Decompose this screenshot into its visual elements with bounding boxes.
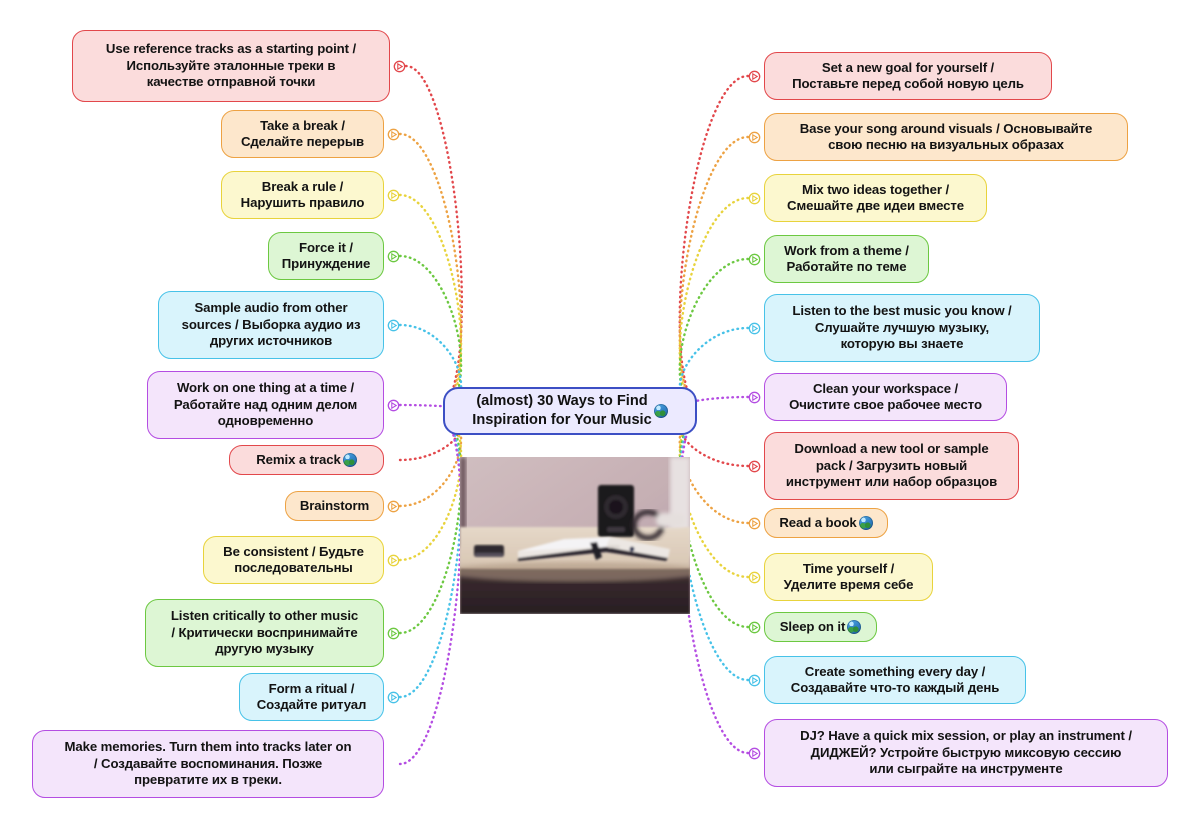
- branch-node-form-a-ritual[interactable]: Form a ritual / Создайте ритуал: [239, 673, 384, 721]
- connector-mix-two-ideas-together: [680, 198, 748, 407]
- connector-use-reference-tracks: [406, 66, 462, 404]
- branch-label: Listen to the best music you know / Слуш…: [792, 303, 1011, 353]
- branch-arrow-marker[interactable]: [387, 500, 400, 513]
- branch-node-sleep-on-it[interactable]: Sleep on it: [764, 612, 877, 642]
- connector-work-from-a-theme: [680, 259, 748, 408]
- branch-arrow-marker[interactable]: [748, 517, 761, 530]
- globe-link-icon[interactable]: [343, 453, 357, 467]
- branch-label: Base your song around visuals / Основыва…: [800, 121, 1093, 154]
- connector-set-a-new-goal: [680, 76, 748, 404]
- branch-label: Use reference tracks as a starting point…: [106, 41, 356, 91]
- branch-label: Take a break / Сделайте перерыв: [241, 118, 364, 151]
- branch-arrow-marker[interactable]: [387, 250, 400, 263]
- central-topic-label: (almost) 30 Ways to Find Inspiration for…: [472, 392, 651, 430]
- branch-label: Make memories. Turn them into tracks lat…: [65, 739, 352, 789]
- connector-make-memories: [400, 418, 461, 764]
- branch-label: Force it / Принуждение: [282, 240, 370, 273]
- branch-node-remix-a-track[interactable]: Remix a track: [229, 445, 384, 475]
- branch-label: Brainstorm: [300, 498, 369, 515]
- branch-arrow-marker[interactable]: [748, 391, 761, 404]
- branch-node-base-your-song-around-visuals[interactable]: Base your song around visuals / Основыва…: [764, 113, 1128, 161]
- connector-break-a-rule: [400, 195, 461, 407]
- branch-label: Sample audio from other sources / Выборк…: [182, 300, 361, 350]
- branch-node-read-a-book[interactable]: Read a book: [764, 508, 888, 538]
- branch-label: Time yourself / Уделите время себе: [784, 561, 914, 594]
- branch-node-be-consistent[interactable]: Be consistent / Будьте последовательны: [203, 536, 384, 584]
- connector-form-a-ritual: [400, 417, 461, 697]
- branch-arrow-marker[interactable]: [387, 691, 400, 704]
- branch-node-clean-your-workspace[interactable]: Clean your workspace / Очистите свое раб…: [764, 373, 1007, 421]
- branch-label: Clean your workspace / Очистите свое раб…: [789, 381, 982, 414]
- branch-label: Break a rule / Нарушить правило: [241, 179, 365, 212]
- branch-arrow-marker[interactable]: [748, 747, 761, 760]
- branch-node-sample-audio-from-other-sources[interactable]: Sample audio from other sources / Выборк…: [158, 291, 384, 359]
- branch-node-use-reference-tracks[interactable]: Use reference tracks as a starting point…: [72, 30, 390, 102]
- branch-arrow-marker[interactable]: [393, 60, 406, 73]
- branch-label: Create something every day / Создавайте …: [791, 664, 999, 697]
- branch-arrow-marker[interactable]: [748, 322, 761, 335]
- mindmap-canvas: Use reference tracks as a starting point…: [0, 0, 1200, 830]
- branch-arrow-marker[interactable]: [387, 399, 400, 412]
- globe-link-icon[interactable]: [654, 404, 668, 418]
- branch-node-brainstorm[interactable]: Brainstorm: [285, 491, 384, 521]
- branch-node-break-a-rule[interactable]: Break a rule / Нарушить правило: [221, 171, 384, 219]
- connector-force-it: [400, 256, 461, 408]
- branch-node-set-a-new-goal[interactable]: Set a new goal for yourself / Поставьте …: [764, 52, 1052, 100]
- branch-node-download-a-new-tool[interactable]: Download a new tool or sample pack / Заг…: [764, 432, 1019, 500]
- branch-arrow-marker[interactable]: [387, 128, 400, 141]
- desk-photo-illustration: [460, 457, 690, 614]
- branch-label: Remix a track: [256, 452, 340, 469]
- branch-label: Form a ritual / Создайте ритуал: [257, 681, 367, 714]
- branch-label: Be consistent / Будьте последовательны: [223, 544, 364, 577]
- branch-label: Set a new goal for yourself / Поставьте …: [792, 60, 1024, 93]
- center-image: [460, 457, 690, 614]
- branch-arrow-marker[interactable]: [387, 627, 400, 640]
- branch-arrow-marker[interactable]: [748, 621, 761, 634]
- branch-label: Read a book: [779, 515, 856, 532]
- branch-label: Work from a theme / Работайте по теме: [784, 243, 909, 276]
- branch-label: Mix two ideas together / Смешайте две ид…: [787, 182, 964, 215]
- branch-label: Listen critically to other music / Крити…: [171, 608, 358, 658]
- branch-node-take-a-break[interactable]: Take a break / Сделайте перерыв: [221, 110, 384, 158]
- branch-arrow-marker[interactable]: [748, 253, 761, 266]
- branch-node-listen-to-the-best-music[interactable]: Listen to the best music you know / Слуш…: [764, 294, 1040, 362]
- connector-base-your-song-around-visuals: [680, 137, 748, 405]
- branch-node-time-yourself[interactable]: Time yourself / Уделите время себе: [764, 553, 933, 601]
- connector-be-consistent: [400, 414, 461, 560]
- branch-arrow-marker[interactable]: [387, 319, 400, 332]
- branch-arrow-marker[interactable]: [748, 131, 761, 144]
- branch-node-listen-critically[interactable]: Listen critically to other music / Крити…: [145, 599, 384, 667]
- branch-arrow-marker[interactable]: [387, 554, 400, 567]
- branch-arrow-marker[interactable]: [387, 189, 400, 202]
- branch-node-mix-two-ideas-together[interactable]: Mix two ideas together / Смешайте две ид…: [764, 174, 987, 222]
- branch-node-work-on-one-thing-at-a-time[interactable]: Work on one thing at a time / Работайте …: [147, 371, 384, 439]
- branch-arrow-marker[interactable]: [748, 571, 761, 584]
- branch-node-force-it[interactable]: Force it / Принуждение: [268, 232, 384, 280]
- branch-label: Work on one thing at a time / Работайте …: [174, 380, 357, 430]
- branch-node-work-from-a-theme[interactable]: Work from a theme / Работайте по теме: [764, 235, 929, 283]
- globe-link-icon[interactable]: [847, 620, 861, 634]
- branch-label: Sleep on it: [780, 619, 846, 636]
- connector-take-a-break: [400, 134, 461, 405]
- connector-listen-critically: [400, 415, 461, 633]
- globe-link-icon[interactable]: [859, 516, 873, 530]
- branch-label: DJ? Have a quick mix session, or play an…: [800, 728, 1132, 778]
- branch-arrow-marker[interactable]: [748, 674, 761, 687]
- branch-arrow-marker[interactable]: [748, 192, 761, 205]
- branch-arrow-marker[interactable]: [748, 460, 761, 473]
- branch-arrow-marker[interactable]: [748, 70, 761, 83]
- branch-label: Download a new tool or sample pack / Заг…: [786, 441, 997, 491]
- branch-node-create-something-every-day[interactable]: Create something every day / Создавайте …: [764, 656, 1026, 704]
- branch-node-dj-have-a-quick-mix-session[interactable]: DJ? Have a quick mix session, or play an…: [764, 719, 1168, 787]
- central-topic-node[interactable]: (almost) 30 Ways to Find Inspiration for…: [443, 387, 697, 435]
- branch-node-make-memories[interactable]: Make memories. Turn them into tracks lat…: [32, 730, 384, 798]
